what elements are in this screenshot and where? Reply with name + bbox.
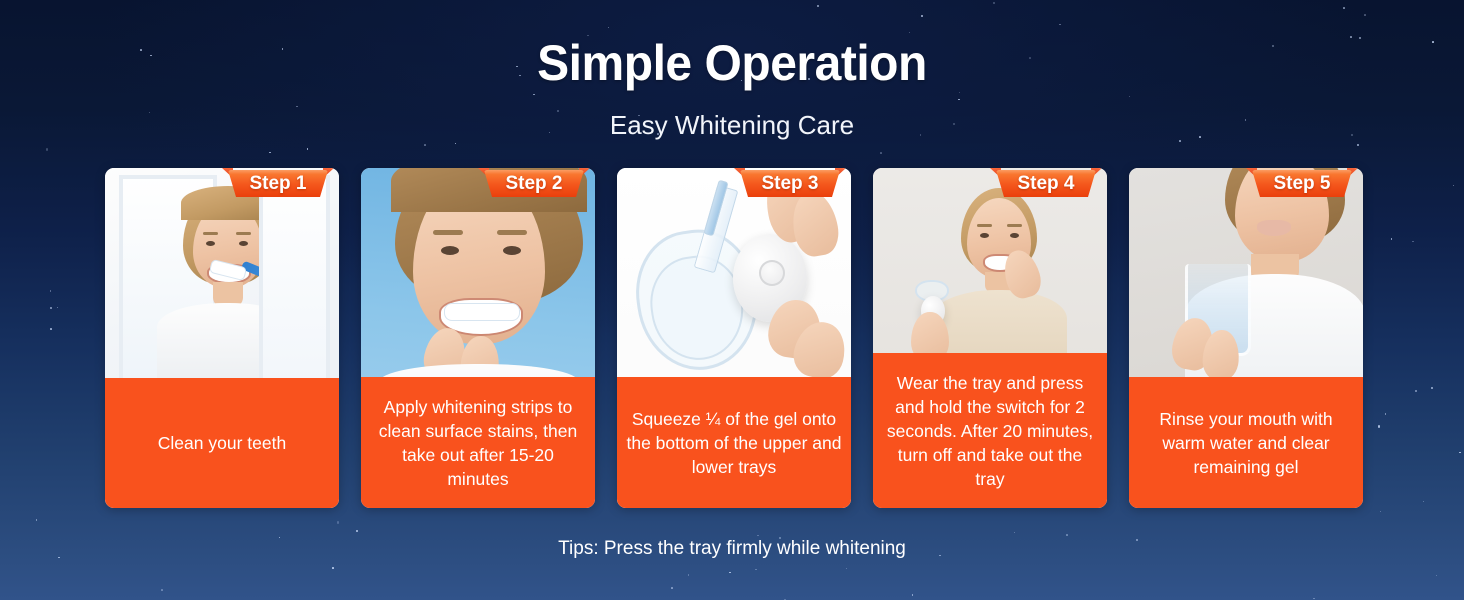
step-badge-label-4: Step 4 <box>996 170 1096 197</box>
step-badge-label-3: Step 3 <box>740 170 840 197</box>
promo-banner: Simple Operation Easy Whitening Care <box>0 0 1464 600</box>
step-card-2: Step 2 Apply whitening strips to clean s… <box>361 168 595 508</box>
step-caption-3: Squeeze ¼ of the gel onto the bottom of … <box>617 377 851 508</box>
step-badge-4: Step 4 <box>996 168 1096 197</box>
step-badge-1: Step 1 <box>228 168 328 197</box>
page-title: Simple Operation <box>29 34 1434 92</box>
step-caption-1: Clean your teeth <box>105 378 339 508</box>
step-badge-label-1: Step 1 <box>228 170 328 197</box>
step-badge-2: Step 2 <box>484 168 584 197</box>
step-caption-5: Rinse your mouth with warm water and cle… <box>1129 377 1363 508</box>
step-badge-3: Step 3 <box>740 168 840 197</box>
steps-row: Step 1 Clean your teeth <box>105 168 1359 508</box>
step-caption-2: Apply whitening strips to clean surface … <box>361 377 595 508</box>
step-badge-label-5: Step 5 <box>1252 170 1352 197</box>
page-subtitle: Easy Whitening Care <box>0 110 1464 141</box>
step-badge-label-2: Step 2 <box>484 170 584 197</box>
step-card-5: Step 5 Rinse your mouth with warm water … <box>1129 168 1363 508</box>
step-card-3: Step 3 Squeeze ¼ of the gel onto the bot… <box>617 168 851 508</box>
step-caption-4: Wear the tray and press and hold the swi… <box>873 353 1107 508</box>
step-badge-5: Step 5 <box>1252 168 1352 197</box>
step-card-1: Step 1 Clean your teeth <box>105 168 339 508</box>
step-card-4: Step 4 Wear the tray and press and hold … <box>873 168 1107 508</box>
tips-text: Tips: Press the tray firmly while whiten… <box>0 538 1464 560</box>
